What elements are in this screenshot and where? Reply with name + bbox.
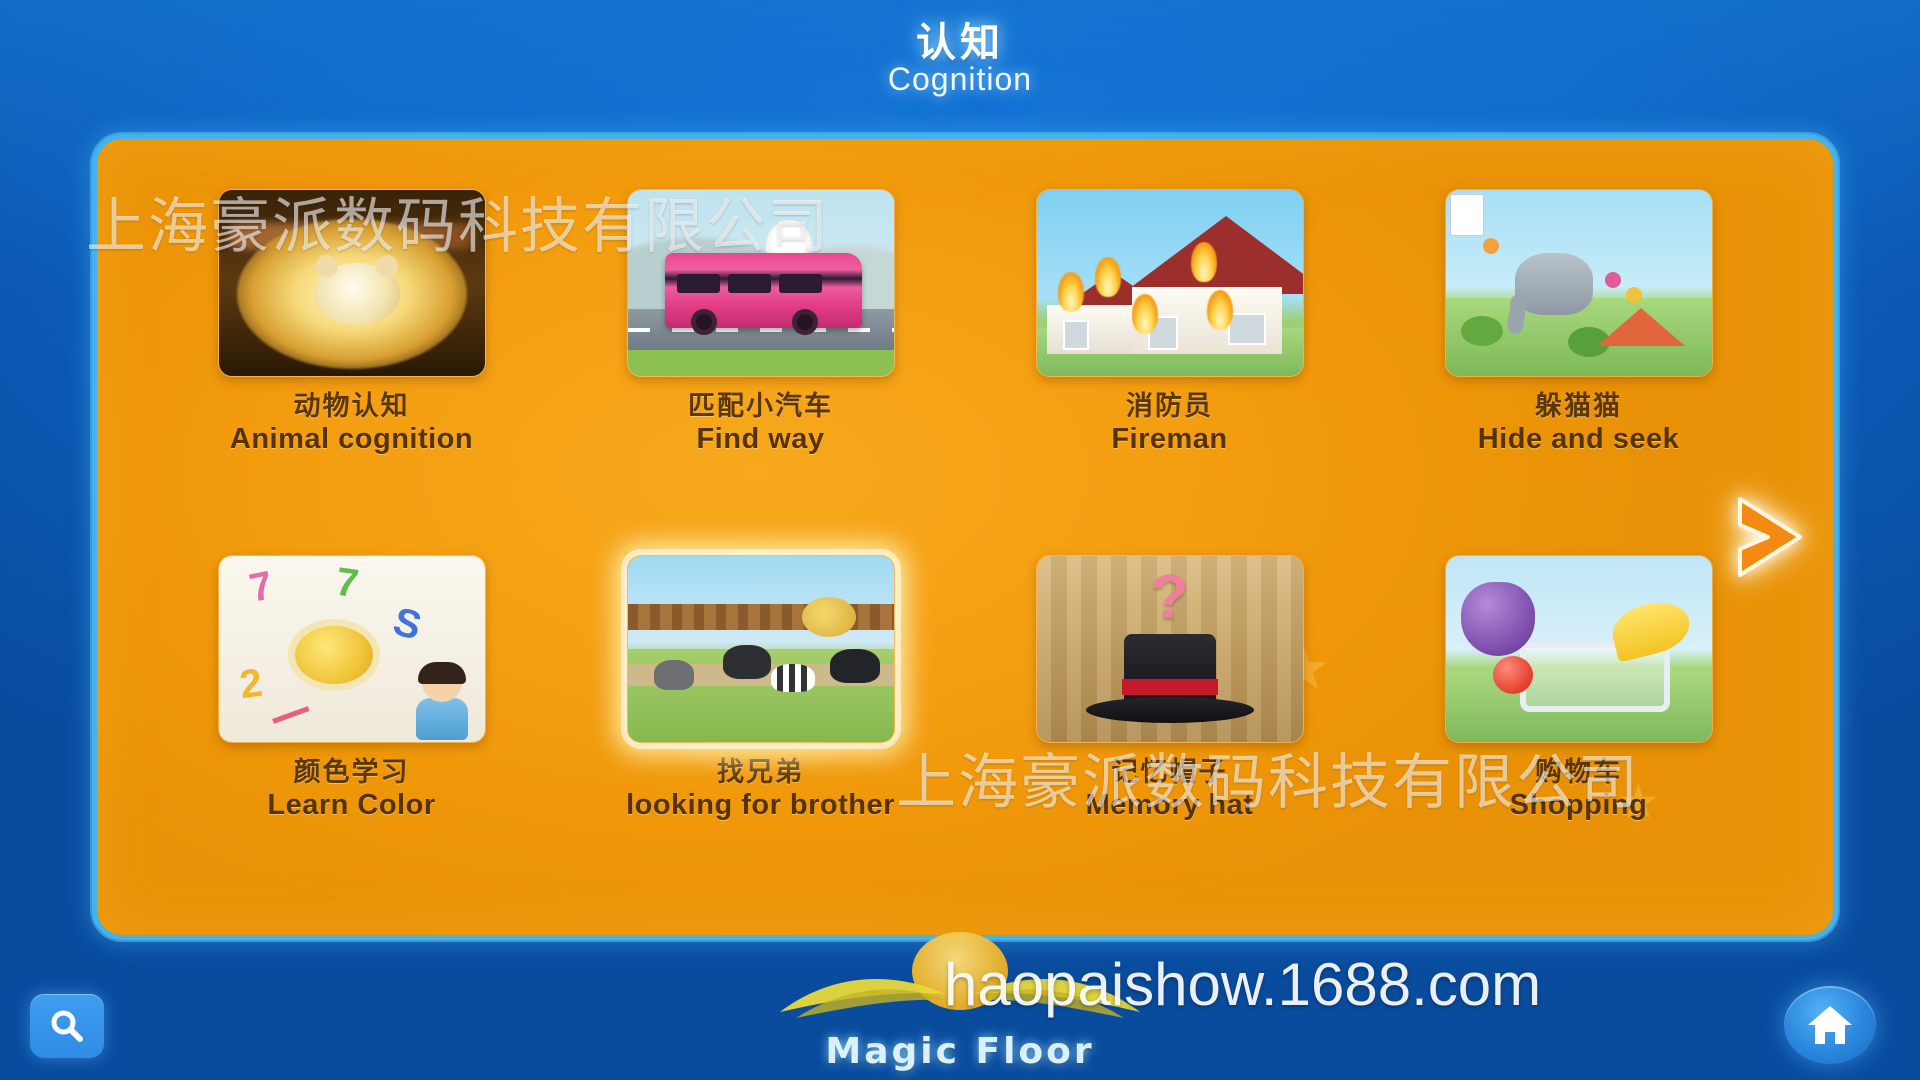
learn-color-thumbnail[interactable]: 7 7 S 2 | bbox=[218, 555, 486, 743]
next-page-arrow[interactable] bbox=[1731, 489, 1811, 585]
game-label-cn: 购物车 bbox=[1510, 757, 1648, 787]
memory-hat-thumbnail[interactable]: ? bbox=[1036, 555, 1304, 743]
game-tile-fireman[interactable]: 消防员 Fireman bbox=[965, 175, 1374, 541]
game-tile-find-way[interactable]: 匹配小汽车 Find way bbox=[556, 175, 965, 541]
game-label-cn: 躲猫猫 bbox=[1478, 391, 1680, 421]
game-caption: 消防员 Fireman bbox=[1111, 391, 1227, 456]
game-tile-animal-cognition[interactable]: 动物认知 Animal cognition bbox=[147, 175, 556, 541]
game-tile-looking-for-brother[interactable]: 找兄弟 looking for brother bbox=[556, 541, 965, 907]
search-icon bbox=[47, 1006, 87, 1046]
game-label-en: Shopping bbox=[1510, 789, 1648, 821]
home-icon bbox=[1805, 1002, 1855, 1048]
game-caption: 颜色学习 Learn Color bbox=[267, 757, 435, 822]
logo-wings-icon bbox=[770, 968, 1150, 1024]
find-way-thumbnail[interactable] bbox=[627, 189, 895, 377]
game-label-cn: 找兄弟 bbox=[626, 757, 895, 787]
game-label-en: Find way bbox=[688, 423, 833, 455]
game-label-cn: 记忆帽子 bbox=[1086, 757, 1254, 787]
game-caption: 找兄弟 looking for brother bbox=[626, 757, 895, 822]
game-tile-shopping[interactable]: 购物车 Shopping bbox=[1374, 541, 1783, 907]
content-panel: ★ ★ ★ ★ 动物认知 Animal cognition bbox=[92, 134, 1838, 940]
fireman-thumbnail[interactable] bbox=[1036, 189, 1304, 377]
game-label-cn: 动物认知 bbox=[230, 391, 473, 421]
game-label-cn: 匹配小汽车 bbox=[688, 391, 833, 421]
game-tile-memory-hat[interactable]: ? 记忆帽子 Memory hat bbox=[965, 541, 1374, 907]
game-caption: 躲猫猫 Hide and seek bbox=[1478, 391, 1680, 456]
search-button[interactable] bbox=[30, 994, 104, 1058]
chevron-right-icon bbox=[1734, 491, 1808, 583]
game-label-cn: 消防员 bbox=[1111, 391, 1227, 421]
game-caption: 购物车 Shopping bbox=[1510, 757, 1648, 822]
game-caption: 记忆帽子 Memory hat bbox=[1086, 757, 1254, 822]
game-tile-learn-color[interactable]: 7 7 S 2 | 颜色学习 Learn Color bbox=[147, 541, 556, 907]
logo-text: Magic Floor bbox=[825, 1031, 1094, 1072]
looking-for-brother-thumbnail[interactable] bbox=[627, 555, 895, 743]
game-caption: 动物认知 Animal cognition bbox=[230, 391, 473, 456]
page-title-en: Cognition bbox=[0, 62, 1920, 97]
game-label-cn: 颜色学习 bbox=[267, 757, 435, 787]
question-mark-icon: ? bbox=[1151, 567, 1189, 629]
game-label-en: Hide and seek bbox=[1478, 423, 1680, 455]
game-tile-hide-and-seek[interactable]: 躲猫猫 Hide and seek bbox=[1374, 175, 1783, 541]
animal-cognition-thumbnail[interactable] bbox=[218, 189, 486, 377]
game-label-en: Memory hat bbox=[1086, 789, 1254, 821]
game-label-en: looking for brother bbox=[626, 789, 895, 821]
home-button[interactable] bbox=[1784, 986, 1876, 1064]
game-label-en: Animal cognition bbox=[230, 423, 473, 455]
game-grid: 动物认知 Animal cognition bbox=[97, 139, 1833, 935]
page-title-cn: 认知 bbox=[0, 22, 1920, 64]
game-label-en: Fireman bbox=[1111, 423, 1227, 455]
hide-and-seek-thumbnail[interactable] bbox=[1445, 189, 1713, 377]
bottom-bar: Magic Floor bbox=[0, 940, 1920, 1080]
app-logo: Magic Floor bbox=[740, 952, 1180, 1072]
page-title: 认知 Cognition bbox=[0, 22, 1920, 97]
shopping-thumbnail[interactable] bbox=[1445, 555, 1713, 743]
game-caption: 匹配小汽车 Find way bbox=[688, 391, 833, 456]
game-label-en: Learn Color bbox=[267, 789, 435, 821]
